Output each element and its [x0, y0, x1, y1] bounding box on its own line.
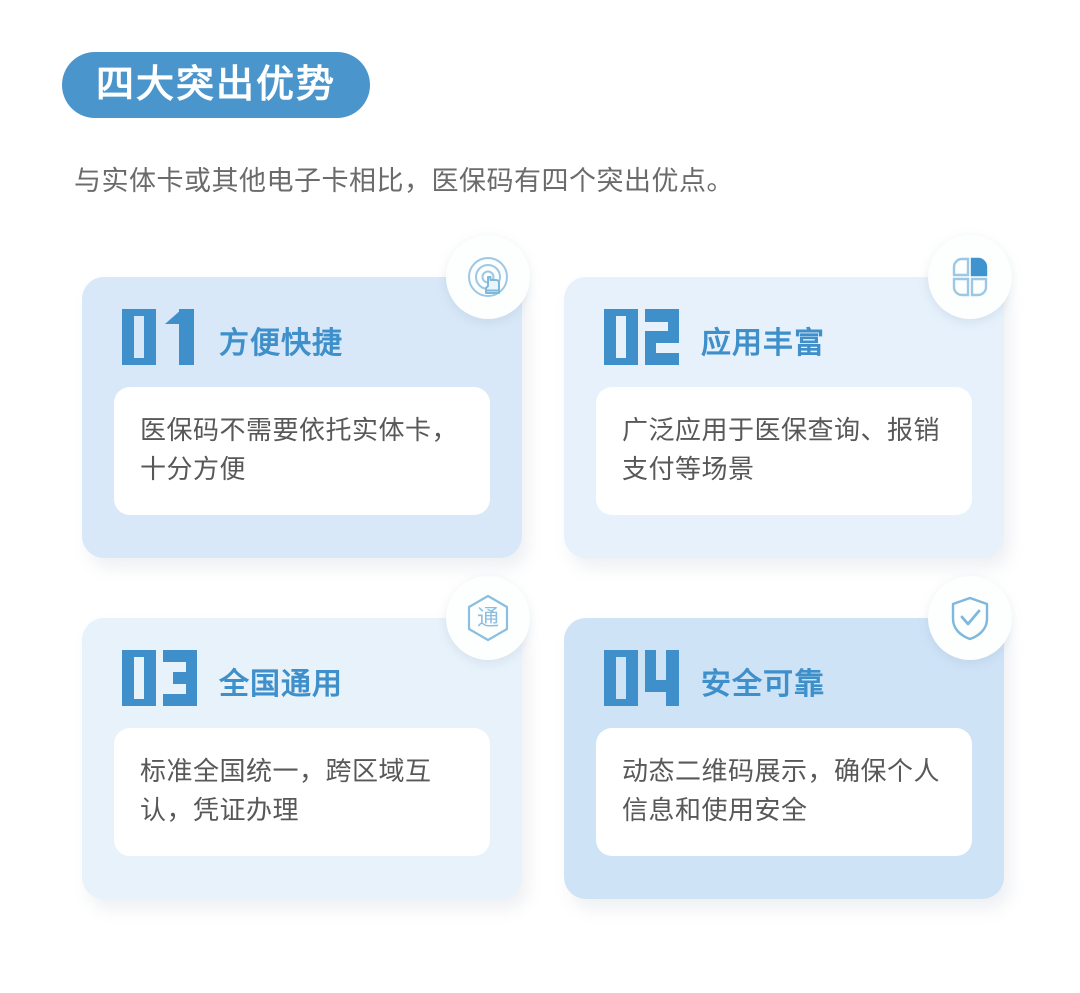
card-body-box: 广泛应用于医保查询、报销支付等场景 — [596, 387, 972, 515]
card-number-01 — [122, 309, 197, 365]
section-subtitle: 与实体卡或其他电子卡相比，医保码有四个突出优点。 — [74, 159, 734, 198]
section-title-badge: 四大突出优势 — [62, 52, 370, 118]
advantage-card-04[interactable]: 安全可靠 动态二维码展示，确保个人信息和使用安全 — [564, 618, 1004, 899]
apps-grid-icon — [928, 235, 1012, 319]
card-body-box: 动态二维码展示，确保个人信息和使用安全 — [596, 728, 972, 856]
card-number-04 — [604, 650, 679, 706]
card-header: 全国通用 — [114, 648, 490, 706]
card-title: 应用丰富 — [701, 329, 825, 365]
card-number-02 — [604, 309, 679, 365]
advantage-card-01[interactable]: 方便快捷 医保码不需要依托实体卡，十分方便 — [82, 277, 522, 558]
card-header: 方便快捷 — [114, 307, 490, 365]
section-title-text: 四大突出优势 — [96, 66, 336, 104]
shield-check-icon — [928, 576, 1012, 660]
advantage-card-grid: 方便快捷 医保码不需要依托实体卡，十分方便 应用 — [82, 277, 1004, 899]
card-header: 应用丰富 — [596, 307, 972, 365]
card-title: 方便快捷 — [219, 329, 343, 365]
hexagon-icon-char: 通 — [477, 607, 499, 629]
advantage-card-02[interactable]: 应用丰富 广泛应用于医保查询、报销支付等场景 — [564, 277, 1004, 558]
card-header: 安全可靠 — [596, 648, 972, 706]
hexagon-tong-icon: 通 — [446, 576, 530, 660]
advantage-card-03[interactable]: 通 全国通用 标准全国统一，跨区域互认，凭证办理 — [82, 618, 522, 899]
card-title: 安全可靠 — [701, 670, 825, 706]
card-body-text: 动态二维码展示，确保个人信息和使用安全 — [622, 752, 946, 830]
card-body-box: 医保码不需要依托实体卡，十分方便 — [114, 387, 490, 515]
card-body-text: 标准全国统一，跨区域互认，凭证办理 — [140, 752, 464, 830]
card-number-03 — [122, 650, 197, 706]
card-body-text: 广泛应用于医保查询、报销支付等场景 — [622, 411, 946, 489]
card-body-box: 标准全国统一，跨区域互认，凭证办理 — [114, 728, 490, 856]
card-title: 全国通用 — [219, 670, 343, 706]
touch-tap-icon — [446, 235, 530, 319]
infographic-page: 四大突出优势 与实体卡或其他电子卡相比，医保码有四个突出优点。 — [0, 0, 1080, 993]
card-body-text: 医保码不需要依托实体卡，十分方便 — [140, 411, 464, 489]
